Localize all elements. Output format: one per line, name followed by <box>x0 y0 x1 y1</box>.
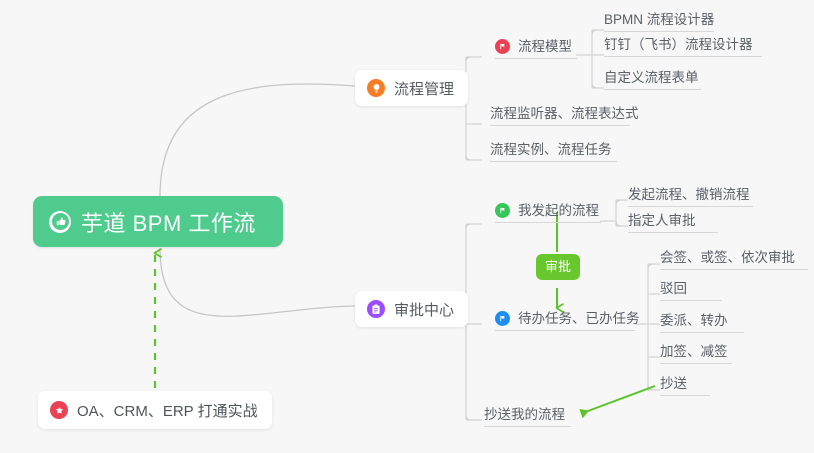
leaf-label-process-model: 流程模型 <box>518 39 572 55</box>
leaf-label-custom-form: 自定义流程表单 <box>604 70 699 86</box>
annotation-chip-approve-label: 审批 <box>545 259 571 274</box>
leaf-label-bpmn-designer: BPMN 流程设计器 <box>604 12 714 28</box>
leaf-label-assignee-approval: 指定人审批 <box>628 213 696 229</box>
leaf-cc[interactable]: 抄送 <box>660 376 687 396</box>
root-label: 芋道 BPM 工作流 <box>81 206 256 238</box>
mindmap-canvas: 芋道 BPM 工作流 流程管理 流程模型 BPMN 流程设计器 钉钉（飞书）流程… <box>0 0 814 453</box>
leaf-reject[interactable]: 驳回 <box>660 281 687 301</box>
underline <box>660 363 732 364</box>
flag-icon-blue <box>495 311 510 326</box>
leaf-assignee-approval[interactable]: 指定人审批 <box>628 213 696 233</box>
underline <box>628 206 753 207</box>
leaf-my-initiated[interactable]: 我发起的流程 <box>495 203 599 223</box>
leaf-countersign[interactable]: 会签、或签、依次审批 <box>660 250 795 270</box>
leaf-label-cc: 抄送 <box>660 376 687 392</box>
leaf-todo-done-tasks[interactable]: 待办任务、已办任务 <box>495 311 640 331</box>
leaf-label-delegate-transfer: 委派、转办 <box>660 313 728 329</box>
leaf-label-countersign: 会签、或签、依次审批 <box>660 250 795 266</box>
underline <box>490 161 617 162</box>
underline <box>660 269 808 270</box>
leaf-delegate-transfer[interactable]: 委派、转办 <box>660 313 728 333</box>
annotation-chip-approve: 审批 <box>536 254 580 280</box>
underline <box>604 31 714 32</box>
leaf-dingtalk-designer[interactable]: 钉钉（飞书）流程设计器 <box>604 37 753 57</box>
star-icon <box>50 401 68 419</box>
branch-label-approval-center: 审批中心 <box>394 299 454 320</box>
underline <box>660 332 744 333</box>
thumbs-up-icon <box>49 211 71 233</box>
leaf-label-todo-done-tasks: 待办任务、已办任务 <box>518 311 640 327</box>
underline <box>495 58 577 59</box>
leaf-label-my-initiated: 我发起的流程 <box>518 203 599 219</box>
footnote-label: OA、CRM、ERP 打通实战 <box>77 400 258 421</box>
underline <box>660 300 722 301</box>
leaf-label-process-listener: 流程监听器、流程表达式 <box>490 106 639 122</box>
leaf-start-cancel-process[interactable]: 发起流程、撤销流程 <box>628 187 750 207</box>
footnote-node-oa-crm-erp[interactable]: OA、CRM、ERP 打通实战 <box>38 391 272 429</box>
underline <box>495 330 635 331</box>
flag-icon-red <box>495 39 510 54</box>
leaf-process-model[interactable]: 流程模型 <box>495 39 572 59</box>
leaf-process-instance[interactable]: 流程实例、流程任务 <box>490 142 612 162</box>
branch-node-process-management[interactable]: 流程管理 <box>355 70 468 106</box>
branch-label-process-management: 流程管理 <box>394 78 454 99</box>
leaf-bpmn-designer[interactable]: BPMN 流程设计器 <box>604 12 714 32</box>
leaf-label-process-instance: 流程实例、流程任务 <box>490 142 612 158</box>
lightbulb-icon <box>367 79 385 97</box>
leaf-cc-to-me[interactable]: 抄送我的流程 <box>484 407 565 427</box>
leaf-custom-form[interactable]: 自定义流程表单 <box>604 70 699 90</box>
leaf-process-listener[interactable]: 流程监听器、流程表达式 <box>490 106 639 126</box>
leaf-label-add-remove-sign: 加签、减签 <box>660 344 728 360</box>
root-node[interactable]: 芋道 BPM 工作流 <box>33 196 283 247</box>
leaf-label-start-cancel-process: 发起流程、撤销流程 <box>628 187 750 203</box>
leaf-label-reject: 驳回 <box>660 281 687 297</box>
underline <box>490 125 630 126</box>
flag-icon-green <box>495 203 510 218</box>
underline <box>628 232 718 233</box>
underline <box>604 56 762 57</box>
leaf-label-cc-to-me: 抄送我的流程 <box>484 407 565 423</box>
underline <box>604 89 701 90</box>
leaf-label-dingtalk-designer: 钉钉（飞书）流程设计器 <box>604 37 753 53</box>
leaf-add-remove-sign[interactable]: 加签、减签 <box>660 344 728 364</box>
underline <box>495 222 601 223</box>
clipboard-icon <box>367 300 385 318</box>
underline <box>484 426 571 427</box>
branch-node-approval-center[interactable]: 审批中心 <box>355 291 468 327</box>
underline <box>660 395 710 396</box>
